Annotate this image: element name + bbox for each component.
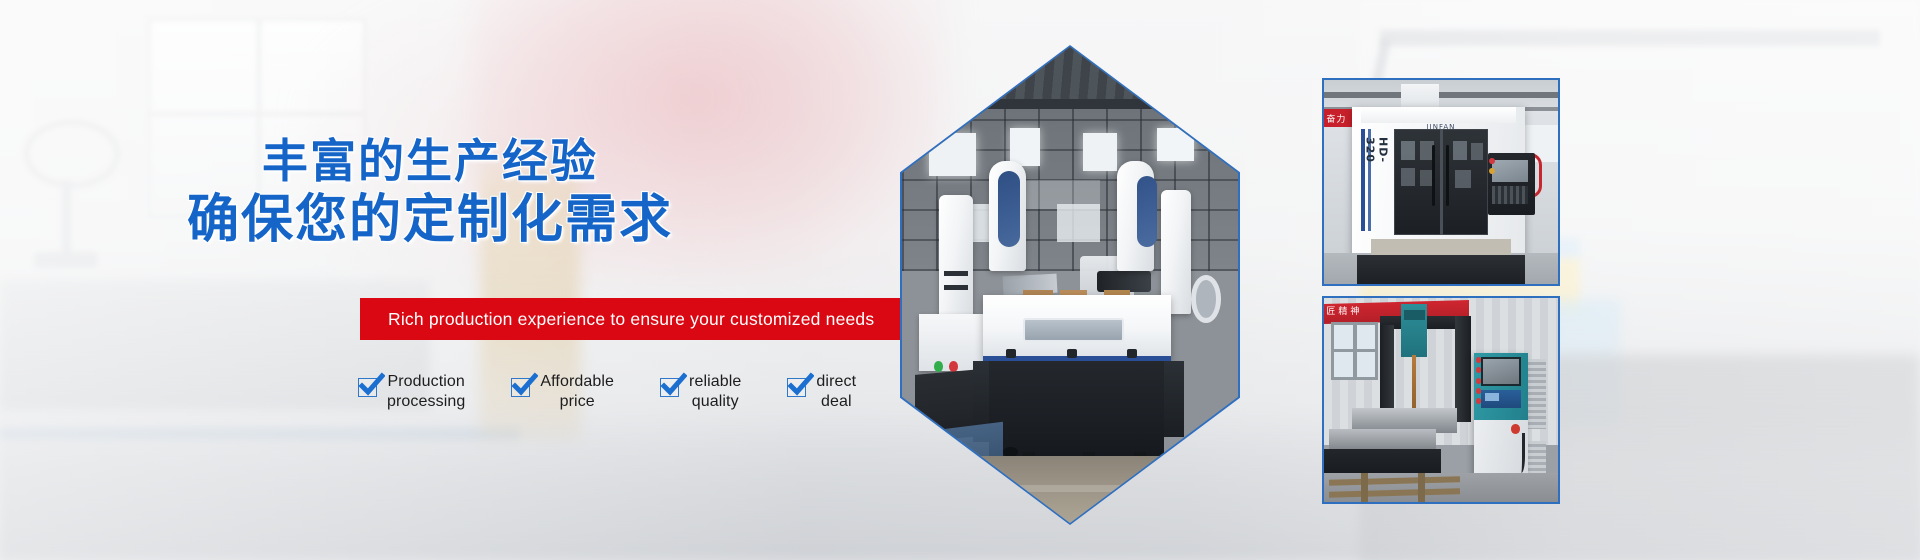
feature-label: Affordable price	[540, 372, 614, 411]
feature-item[interactable]: Affordable price	[511, 372, 614, 411]
headline-line-1: 丰富的生产经验	[0, 134, 860, 188]
banner-copy: 丰富的生产经验 确保您的定制化需求 Rich production experi…	[0, 0, 920, 560]
checkbox-checked-icon	[358, 378, 378, 398]
checkbox-checked-icon	[787, 378, 807, 398]
checkbox-checked-icon	[660, 378, 680, 398]
feature-item[interactable]: Production processing	[358, 372, 465, 411]
feature-list: Production processing Affordable price r…	[358, 372, 856, 411]
feature-label: direct deal	[816, 372, 856, 411]
thumbnail-photo-1[interactable]: 奋力 JINFAN HD-320	[1322, 78, 1560, 286]
machine-model-label: HD-320	[1366, 137, 1389, 186]
subtitle-text: Rich production experience to ensure you…	[388, 309, 874, 330]
feature-label: reliable quality	[689, 372, 741, 411]
subtitle-red-bar: Rich production experience to ensure you…	[360, 298, 905, 340]
headline-line-2: 确保您的定制化需求	[0, 190, 860, 251]
checkbox-checked-icon	[511, 378, 531, 398]
promo-banner: 丰富的生产经验 确保您的定制化需求 Rich production experi…	[0, 0, 1920, 560]
hexagon-image	[902, 47, 1238, 523]
feature-label: Production processing	[387, 372, 465, 411]
hero-hexagon-photo[interactable]	[900, 45, 1240, 525]
feature-item[interactable]: reliable quality	[660, 372, 741, 411]
feature-item[interactable]: direct deal	[787, 372, 856, 411]
thumbnail-photo-2[interactable]: 匠精神	[1322, 296, 1560, 504]
